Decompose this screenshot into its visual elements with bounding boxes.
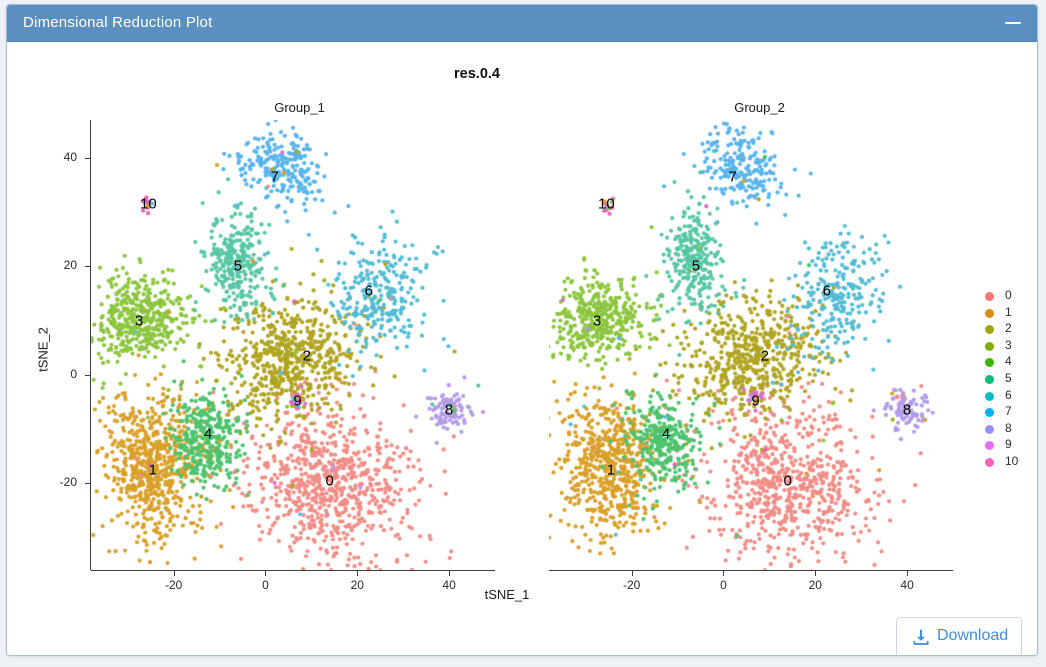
legend-label: 8 (1005, 421, 1012, 435)
legend-label: 10 (1005, 454, 1018, 468)
x-tick-label: 20 (337, 578, 377, 592)
x-tick-mark (632, 571, 633, 576)
download-label: Download (937, 627, 1008, 645)
legend-color-swatch (985, 292, 994, 301)
x-tick-label: -20 (154, 578, 194, 592)
x-tick-mark (907, 571, 908, 576)
y-tick-label: 20 (37, 258, 77, 272)
legend-label: 9 (1005, 437, 1012, 451)
scatter-panel (91, 120, 495, 570)
x-axis-line (91, 570, 495, 571)
x-tick-mark (815, 571, 816, 576)
x-tick-label: 0 (703, 578, 743, 592)
legend-color-swatch (985, 375, 994, 384)
legend-label: 2 (1005, 321, 1012, 335)
download-icon (911, 628, 931, 648)
download-button[interactable]: Download (896, 617, 1022, 656)
card-header: Dimensional Reduction Plot (7, 5, 1037, 42)
legend-label: 5 (1005, 371, 1012, 385)
scatter-canvas (91, 120, 495, 570)
x-tick-mark (357, 571, 358, 576)
legend-label: 1 (1005, 305, 1012, 319)
y-tick-mark (85, 266, 90, 267)
scatter-panel (549, 120, 953, 570)
y-tick-mark (85, 158, 90, 159)
y-tick-label: -20 (37, 475, 77, 489)
x-tick-mark (449, 571, 450, 576)
legend-label: 3 (1005, 338, 1012, 352)
dimensional-reduction-plot: res.0.4 Group_1 Group_2 tSNE_2 tSNE_1 -2… (7, 42, 1037, 612)
card-body: res.0.4 Group_1 Group_2 tSNE_2 tSNE_1 -2… (7, 42, 1037, 655)
y-tick-mark (85, 483, 90, 484)
legend-label: 6 (1005, 388, 1012, 402)
y-tick-mark (85, 375, 90, 376)
scatter-canvas (549, 120, 953, 570)
minimize-bar (1005, 22, 1021, 24)
chart-title: res.0.4 (7, 66, 947, 82)
legend-color-swatch (985, 392, 994, 401)
legend-color-swatch (985, 425, 994, 434)
facet-label-group-2: Group_2 (617, 100, 902, 115)
y-axis-title: tSNE_2 (36, 290, 51, 410)
y-tick-label: 40 (37, 150, 77, 164)
x-tick-label: 40 (429, 578, 469, 592)
x-tick-mark (723, 571, 724, 576)
facet-label-group-1: Group_1 (157, 100, 442, 115)
x-tick-mark (265, 571, 266, 576)
plot-card: Dimensional Reduction Plot res.0.4 Group… (6, 4, 1038, 656)
legend-color-swatch (985, 309, 994, 318)
legend-label: 0 (1005, 288, 1012, 302)
legend-label: 4 (1005, 354, 1012, 368)
x-axis-line (549, 570, 953, 571)
legend-label: 7 (1005, 404, 1012, 418)
legend-color-swatch (985, 458, 994, 467)
page-title: Dimensional Reduction Plot (23, 14, 212, 31)
x-tick-label: 20 (795, 578, 835, 592)
x-tick-label: -20 (612, 578, 652, 592)
legend-color-swatch (985, 342, 994, 351)
screenshot-root: Dimensional Reduction Plot res.0.4 Group… (0, 0, 1046, 667)
x-tick-mark (174, 571, 175, 576)
x-tick-label: 40 (887, 578, 927, 592)
x-tick-label: 0 (245, 578, 285, 592)
y-tick-label: 0 (37, 367, 77, 381)
minimize-icon[interactable] (1003, 13, 1023, 33)
